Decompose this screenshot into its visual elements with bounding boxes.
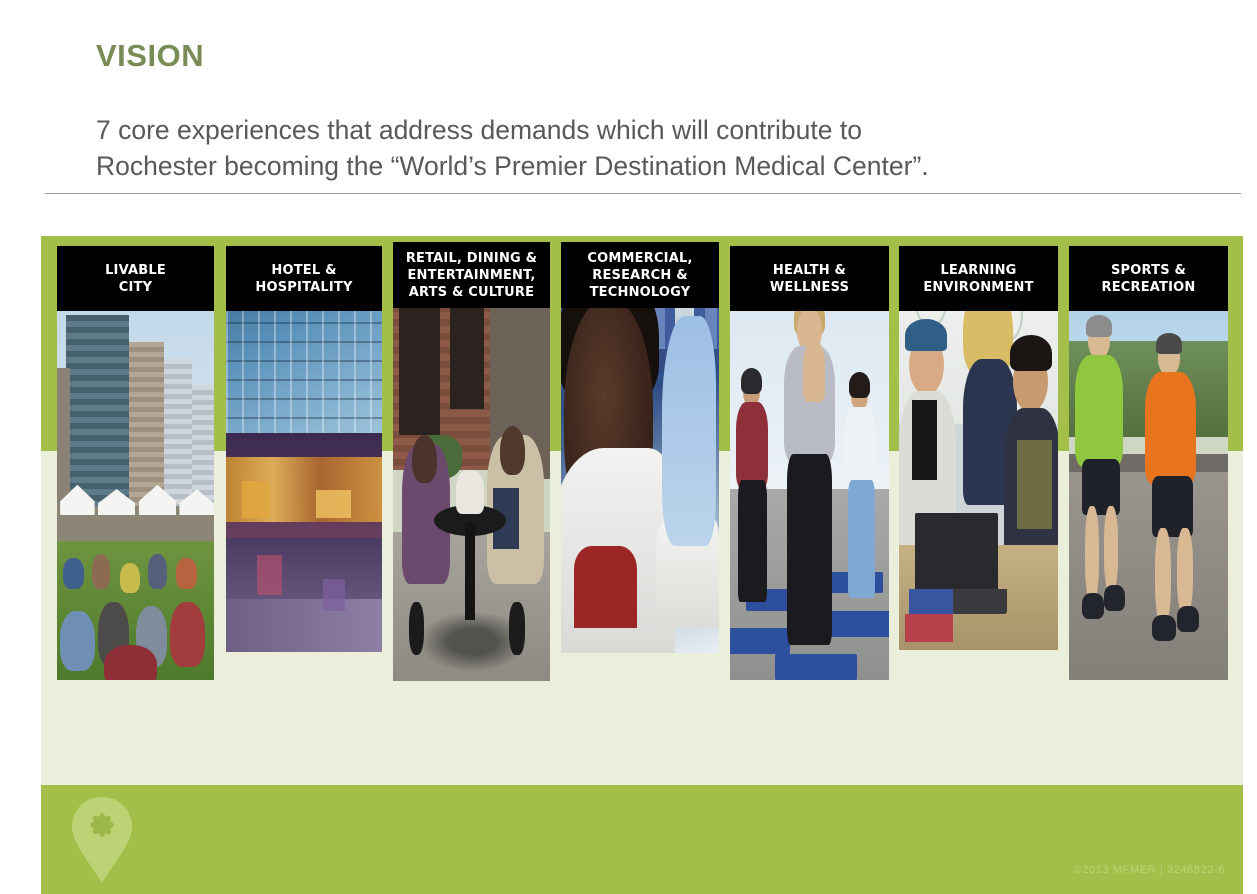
panel-label-health-wellness: HEALTH & WELLNESS [730, 246, 889, 311]
panel-label-hotel-hospitality: HOTEL & HOSPITALITY [226, 246, 382, 311]
panel-health-wellness[interactable]: HEALTH & WELLNESS [730, 246, 889, 680]
panel-sports-recreation[interactable]: SPORTS & RECREATION [1069, 246, 1228, 680]
panel-livable-city[interactable]: LIVABLE CITY [57, 246, 214, 680]
panel-photo-health-wellness [730, 246, 889, 680]
panel-label-commercial-research: COMMERCIAL, RESEARCH & TECHNOLOGY [561, 242, 719, 308]
panel-label-retail-dining: RETAIL, DINING & ENTERTAINMENT, ARTS & C… [393, 242, 550, 308]
panel-label-livable-city: LIVABLE CITY [57, 246, 214, 311]
presentation-slide: VISION 7 core experiences that address d… [0, 0, 1257, 894]
panel-commercial-research[interactable]: COMMERCIAL, RESEARCH & TECHNOLOGY [561, 242, 719, 653]
panel-photo-sports-recreation [1069, 246, 1228, 680]
mayo-clinic-shield-icon [66, 793, 138, 885]
experience-panel-group: LIVABLE CITY HOTEL & HOSPITALITY [0, 0, 1257, 894]
panel-photo-livable-city [57, 246, 214, 680]
panel-retail-dining[interactable]: RETAIL, DINING & ENTERTAINMENT, ARTS & C… [393, 242, 550, 681]
panel-hotel-hospitality[interactable]: HOTEL & HOSPITALITY [226, 246, 382, 652]
panel-label-learning-environment: LEARNING ENVIRONMENT [899, 246, 1058, 311]
panel-learning-environment[interactable]: LEARNING ENVIRONMENT [899, 246, 1058, 650]
footer-bar: ©2013 MFMER | 3246823-6 [41, 785, 1243, 894]
panel-label-sports-recreation: SPORTS & RECREATION [1069, 246, 1228, 311]
copyright-text: ©2013 MFMER | 3246823-6 [1074, 864, 1225, 876]
